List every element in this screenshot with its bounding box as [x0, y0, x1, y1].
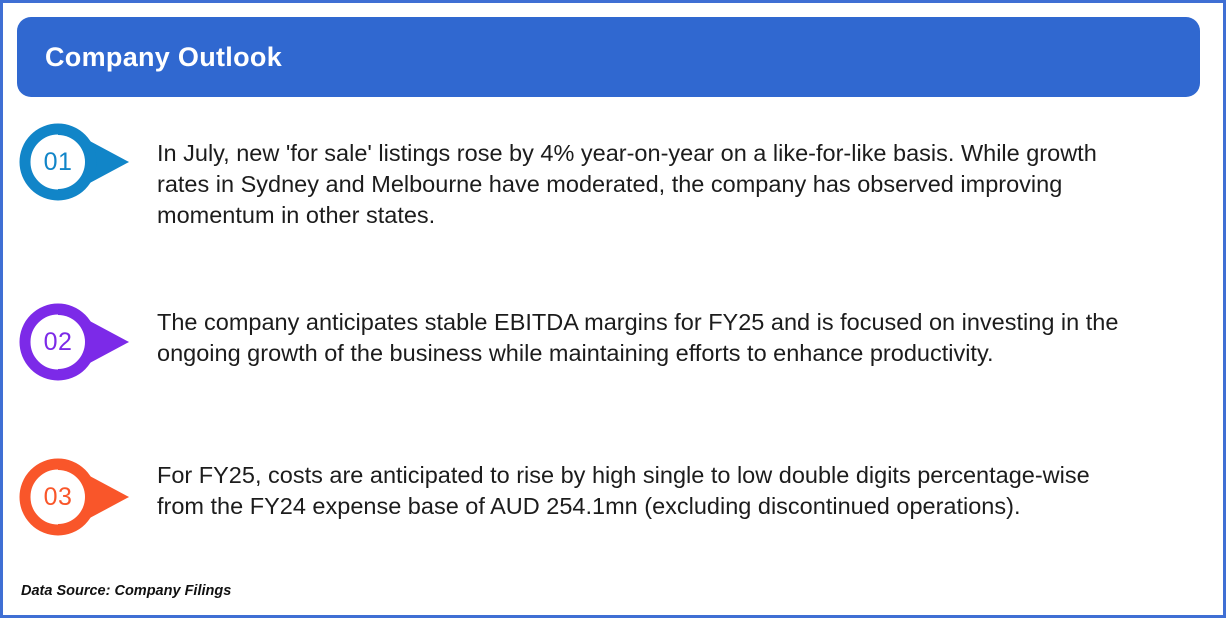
point-text: In July, new 'for sale' listings rose by…: [137, 121, 1222, 231]
outlook-points-list: 01 In July, new 'for sale' listings rose…: [3, 121, 1226, 566]
data-source-note: Data Source: Company Filings: [21, 583, 231, 599]
header-bar: Company Outlook: [17, 17, 1200, 97]
list-item: 03 For FY25, costs are anticipated to ri…: [3, 456, 1226, 566]
point-text: For FY25, costs are anticipated to rise …: [137, 456, 1222, 522]
page-title: Company Outlook: [17, 44, 282, 71]
point-marker-01: 01: [17, 121, 137, 203]
point-number: 03: [17, 456, 99, 538]
point-number: 01: [17, 121, 99, 203]
point-number: 02: [17, 301, 99, 383]
point-marker-03: 03: [17, 456, 137, 538]
list-item: 02 The company anticipates stable EBITDA…: [3, 301, 1226, 456]
list-item: 01 In July, new 'for sale' listings rose…: [3, 121, 1226, 301]
point-text: The company anticipates stable EBITDA ma…: [137, 301, 1222, 369]
point-marker-02: 02: [17, 301, 137, 383]
slide-canvas: Company Outlook 01 In July, new 'for sal…: [0, 0, 1226, 618]
